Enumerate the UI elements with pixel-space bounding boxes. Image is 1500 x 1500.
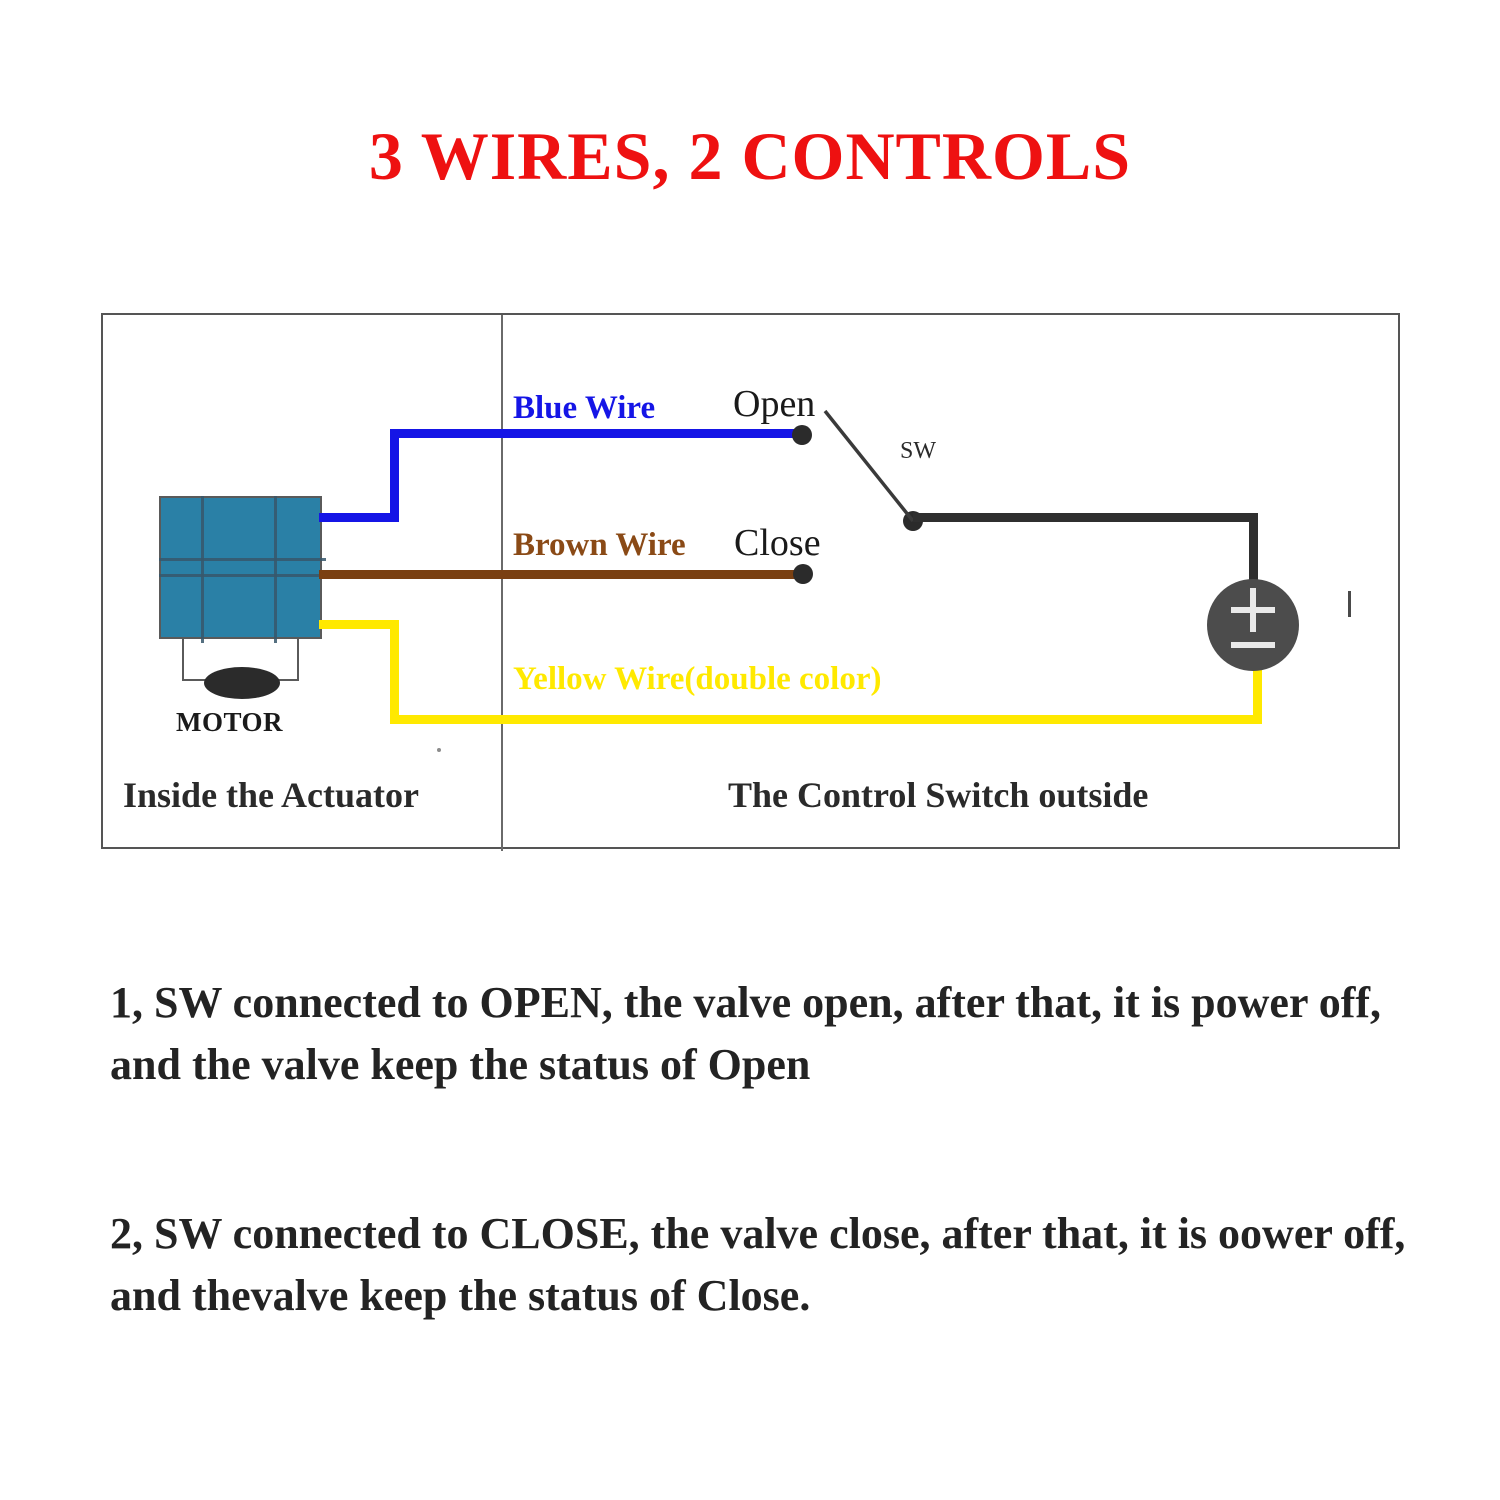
actuator-grid-line — [274, 496, 277, 643]
close-terminal-label: Close — [734, 524, 821, 562]
battery-icon — [1207, 579, 1299, 671]
open-terminal-label: Open — [733, 385, 815, 423]
speck-artifact — [437, 748, 441, 752]
page-root: 3 WIRES, 2 CONTROLS MOTOR — [0, 0, 1500, 1500]
yellow-wire-segment — [390, 715, 1262, 724]
yellow-wire-segment — [390, 620, 399, 719]
yellow-wire-segment — [319, 620, 399, 629]
note-open: 1, SW connected to OPEN, the valve open,… — [110, 972, 1450, 1097]
close-terminal-dot[interactable] — [793, 564, 813, 584]
switch-label: SW — [900, 439, 936, 463]
page-title: 3 WIRES, 2 CONTROLS — [0, 122, 1500, 190]
actuator-grid-line — [159, 574, 326, 577]
actuator-body — [159, 496, 322, 639]
motor-icon — [204, 667, 280, 699]
blue-wire-segment — [319, 513, 399, 522]
open-terminal-dot[interactable] — [792, 425, 812, 445]
actuator-grid-line — [201, 496, 204, 643]
blue-wire-segment — [390, 429, 801, 438]
note-close: 2, SW connected to CLOSE, the valve clos… — [110, 1203, 1450, 1328]
minus-icon — [1231, 642, 1275, 648]
black-wire-segment — [913, 513, 1258, 522]
actuator-grid-line — [159, 558, 326, 561]
plus-icon — [1250, 588, 1256, 632]
yellow-wire-label: Yellow Wire(double color) — [513, 663, 881, 696]
black-wire-segment — [1249, 513, 1258, 583]
blue-wire-label: Blue Wire — [513, 392, 655, 425]
wiring-diagram: MOTOR Bl — [101, 313, 1400, 849]
left-panel-caption: Inside the Actuator — [123, 777, 419, 813]
right-panel-caption: The Control Switch outside — [728, 777, 1148, 813]
brown-wire-label: Brown Wire — [513, 529, 686, 562]
motor-label: MOTOR — [176, 707, 283, 738]
blue-wire-segment — [390, 429, 399, 517]
brown-wire-segment — [319, 570, 801, 579]
panel-divider — [501, 315, 503, 851]
tick-artifact — [1348, 591, 1351, 617]
